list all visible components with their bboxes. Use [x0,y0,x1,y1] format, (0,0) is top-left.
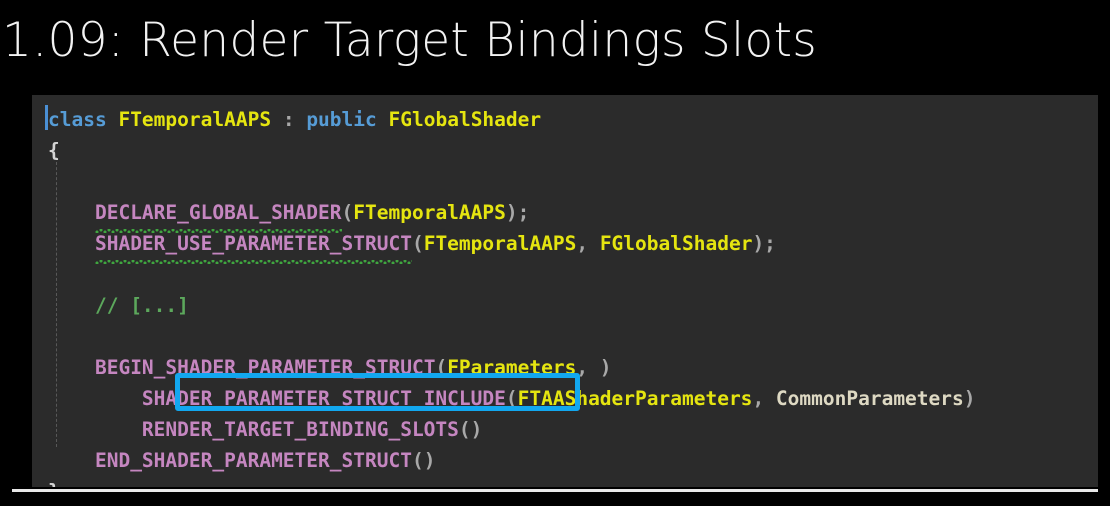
code-token-punct: ( [342,201,354,224]
code-line: // [...] [32,290,1098,321]
code-token-plain: }; [48,480,71,487]
code-token-plain [48,387,142,410]
code-token-punct: ( [435,356,447,379]
code-token-macro: END_SHADER_PARAMETER_STRUCT [95,449,412,472]
code-token-punct: ); [506,201,529,224]
code-token-plain [48,232,95,255]
code-token-type: FTAAShaderParameters [518,387,753,410]
code-token-macro: SHADER_PARAMETER_STRUCT_INCLUDE [142,387,506,410]
code-token-keyword: public [306,108,376,131]
code-line: }; [32,476,1098,487]
code-token-plain [377,108,389,131]
code-line [32,321,1098,352]
code-line: SHADER_PARAMETER_STRUCT_INCLUDE(FTAAShad… [32,383,1098,414]
code-token-type: FParameters [447,356,576,379]
code-token-punct: ) [964,387,976,410]
code-token-keyword: class [48,108,107,131]
code-token-type: FTemporalAAPS [353,201,506,224]
code-token-plain: { [48,139,60,162]
code-token-plain [48,356,95,379]
code-line: END_SHADER_PARAMETER_STRUCT() [32,445,1098,476]
code-token-type: FGlobalShader [389,108,542,131]
code-token-punct: ( [412,232,424,255]
code-line [32,166,1098,197]
slide-bottom-rule [12,489,1098,492]
code-token-macro: RENDER_TARGET_BINDING_SLOTS [142,418,459,441]
code-block: class FTemporalAAPS : public FGlobalShad… [32,104,1098,487]
code-token-punct: () [459,418,482,441]
code-token-punct: , [576,232,599,255]
code-token-comment: // [...] [95,294,189,317]
code-token-macro: DECLARE_GLOBAL_SHADER [95,197,342,228]
code-line: RENDER_TARGET_BINDING_SLOTS() [32,414,1098,445]
code-line: class FTemporalAAPS : public FGlobalShad… [32,104,1098,135]
code-line: SHADER_USE_PARAMETER_STRUCT(FTemporalAAP… [32,228,1098,259]
code-token-plain [48,201,95,224]
code-line: DECLARE_GLOBAL_SHADER(FTemporalAAPS); [32,197,1098,228]
code-token-type: FTemporalAAPS [424,232,577,255]
code-token-macro: SHADER_USE_PARAMETER_STRUCT [95,228,412,259]
code-token-plain [48,449,95,472]
code-token-punct: ( [506,387,518,410]
code-token-type: FTemporalAAPS [118,108,271,131]
code-token-punct: , [752,387,775,410]
code-token-punct: , ) [576,356,611,379]
code-line: BEGIN_SHADER_PARAMETER_STRUCT(FParameter… [32,352,1098,383]
code-line [32,259,1098,290]
code-token-type: FGlobalShader [600,232,753,255]
page-title: 1.09: Render Target Bindings Slots [2,2,1102,78]
code-token-punct: : [271,108,306,131]
code-token-plain [48,294,95,317]
code-line: { [32,135,1098,166]
code-token-plain [107,108,119,131]
code-screenshot-panel: class FTemporalAAPS : public FGlobalShad… [32,95,1098,487]
code-token-punct: ); [752,232,775,255]
code-token-plain [48,418,142,441]
code-token-ident: CommonParameters [776,387,964,410]
code-token-punct: () [412,449,435,472]
code-token-macro: BEGIN_SHADER_PARAMETER_STRUCT [95,356,435,379]
